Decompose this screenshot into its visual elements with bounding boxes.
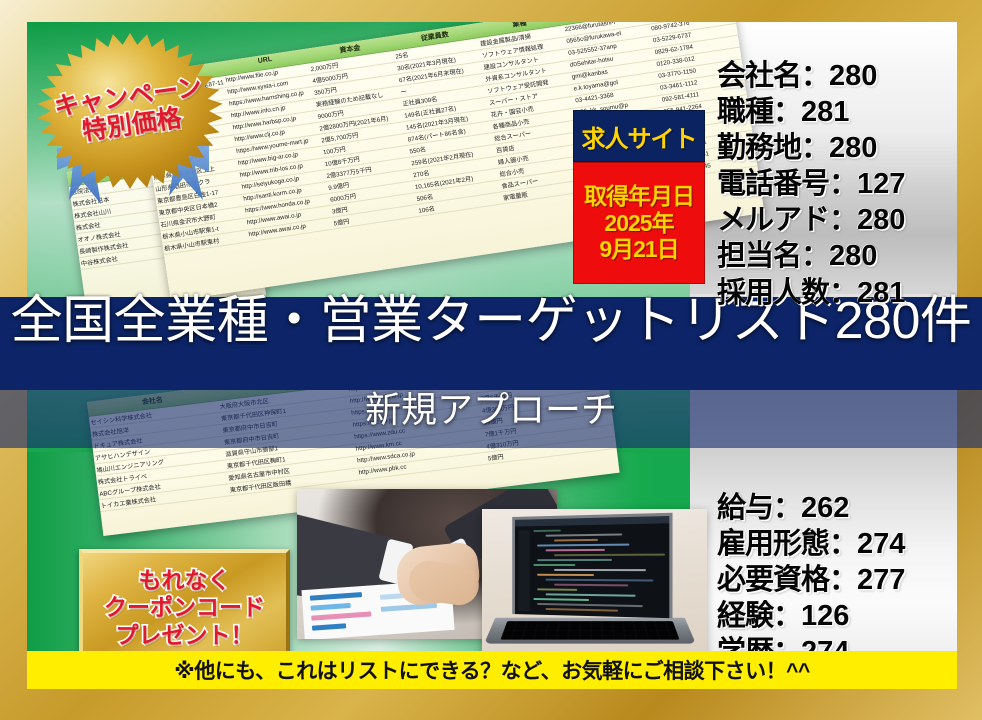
stat-label: 職種： bbox=[717, 96, 801, 128]
stat-line: 経験：126 bbox=[717, 598, 905, 634]
stat-label: 電話番号： bbox=[717, 168, 857, 200]
stat-value: 274 bbox=[857, 528, 905, 560]
code-line bbox=[546, 579, 654, 582]
stat-label: 経験： bbox=[717, 600, 801, 632]
stat-label: 雇用形態： bbox=[717, 528, 857, 560]
code-line bbox=[554, 553, 664, 556]
code-line bbox=[546, 549, 605, 552]
stat-line: 給与：262 bbox=[717, 490, 905, 526]
code-line bbox=[554, 613, 594, 615]
stat-line: メルアド：280 bbox=[717, 202, 905, 238]
job-site-box: 求人サイト bbox=[573, 110, 705, 162]
code-line bbox=[554, 539, 598, 542]
stat-line: 電話番号：127 bbox=[717, 166, 905, 202]
coupon-box: もれなく クーポンコード プレゼント！ bbox=[79, 549, 290, 667]
code-line bbox=[537, 559, 611, 562]
code-line bbox=[537, 588, 577, 591]
stat-value: 127 bbox=[857, 168, 905, 200]
code-line bbox=[546, 593, 636, 597]
page-subtitle: 新規アプローチ bbox=[0, 392, 982, 428]
stat-value: 280 bbox=[857, 204, 905, 236]
stat-label: メルアド： bbox=[717, 204, 857, 236]
stat-line: 職種：281 bbox=[717, 94, 905, 130]
code-line bbox=[546, 533, 622, 537]
code-line bbox=[533, 598, 589, 601]
poster-root: 会社名住所医院法人山川建市名株式会社日本東京都港区株式会社山川大阪府大阪市株式会… bbox=[0, 0, 982, 720]
code-line bbox=[537, 574, 594, 577]
stat-value: 280 bbox=[829, 60, 877, 92]
stats-list-top: 会社名：280職種：281勤務地：280電話番号：127メルアド：280担当名：… bbox=[717, 58, 905, 311]
code-line bbox=[537, 543, 629, 546]
stat-value: 281 bbox=[857, 277, 905, 309]
job-site-label: 求人サイト bbox=[582, 119, 697, 154]
date-monthday: 9月21日 bbox=[599, 236, 678, 262]
coupon-line-2: クーポンコード bbox=[104, 594, 265, 622]
stat-line: 雇用形態：274 bbox=[717, 526, 905, 562]
stat-value: 277 bbox=[857, 564, 905, 596]
stat-value: 262 bbox=[801, 492, 849, 524]
code-line bbox=[533, 564, 574, 566]
date-label: 取得年月日 bbox=[584, 183, 694, 209]
stats-list-bottom: 給与：262雇用形態：274必要資格：277経験：126学歴：274 bbox=[717, 490, 905, 670]
stat-label: 給与： bbox=[717, 492, 801, 524]
stat-label: 会社名： bbox=[717, 60, 829, 92]
campaign-badge: キャンペーン 特別価格 bbox=[35, 32, 225, 190]
laptop-photo bbox=[482, 509, 707, 659]
stat-value: 280 bbox=[829, 132, 877, 164]
stat-label: 勤務地： bbox=[717, 132, 829, 164]
stat-line: 必要資格：277 bbox=[717, 562, 905, 598]
laptop-screen bbox=[512, 513, 672, 618]
coupon-line-1: もれなく bbox=[139, 567, 231, 595]
stat-label: 採用人数： bbox=[717, 277, 857, 309]
code-line bbox=[554, 583, 628, 586]
stat-label: 担当名： bbox=[717, 240, 829, 272]
code-line bbox=[533, 530, 560, 533]
date-year: 2025年 bbox=[604, 210, 673, 236]
stat-line: 勤務地：280 bbox=[717, 130, 905, 166]
coupon-line-3: プレゼント！ bbox=[116, 622, 254, 650]
code-line bbox=[546, 608, 618, 612]
code-line bbox=[554, 569, 646, 572]
acquisition-date-box: 取得年月日 2025年 9月21日 bbox=[573, 162, 705, 284]
stat-line: 会社名：280 bbox=[717, 58, 905, 94]
stat-label: 必要資格： bbox=[717, 564, 857, 596]
stat-line: 採用人数：281 bbox=[717, 275, 905, 311]
code-line bbox=[537, 603, 643, 608]
stat-value: 281 bbox=[801, 96, 849, 128]
stat-value: 126 bbox=[801, 600, 849, 632]
stat-value: 280 bbox=[829, 240, 877, 272]
footer-text: ※他にも、これはリストにできる？など、お気軽にご相談下さい！^^ bbox=[174, 655, 809, 685]
footer-banner: ※他にも、これはリストにできる？など、お気軽にご相談下さい！^^ bbox=[27, 651, 957, 689]
stat-line: 担当名：280 bbox=[717, 238, 905, 274]
